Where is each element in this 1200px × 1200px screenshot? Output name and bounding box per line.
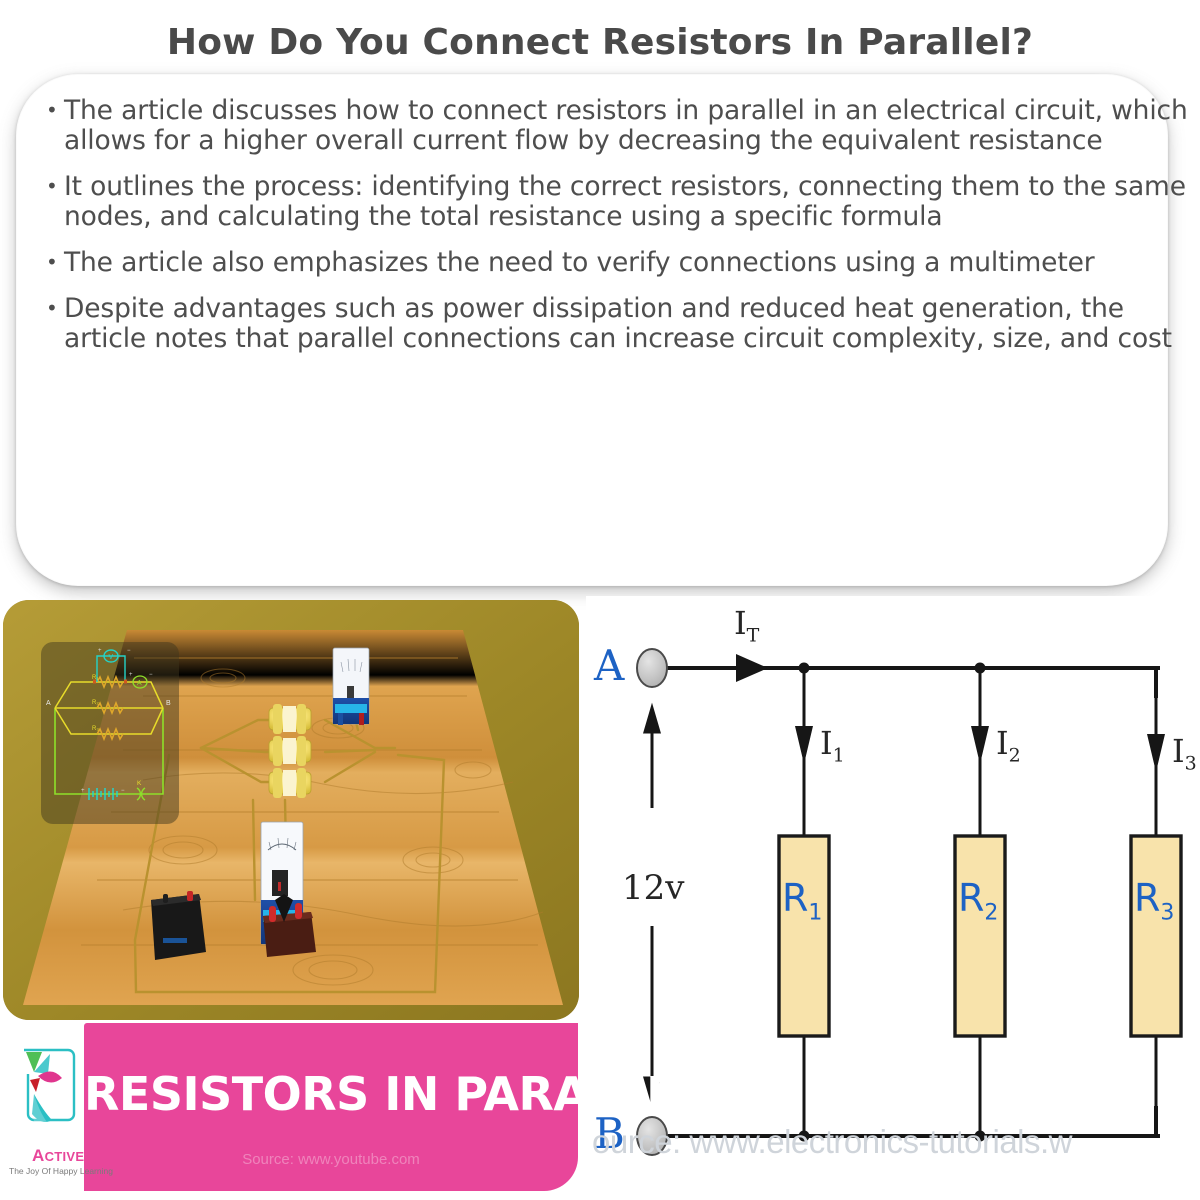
svg-text:V: V: [109, 654, 114, 661]
svg-text:R₃: R₃: [92, 726, 99, 732]
photo-resistor-2: [269, 736, 311, 766]
branch-current-3-label: I3: [1172, 732, 1197, 774]
r3-subscript: 3: [1160, 901, 1174, 926]
banner-title: RESISTORS IN PARALLEL: [84, 1067, 578, 1121]
svg-text:R₂: R₂: [92, 700, 99, 706]
resistor-r1: [779, 836, 829, 1036]
svg-text:A: A: [46, 700, 51, 707]
list-item: It outlines the process: identifying the…: [40, 172, 1190, 232]
branch-current-2-label: I2: [996, 724, 1021, 766]
node-dot: [975, 663, 986, 674]
resistor-r2-label: R2: [958, 876, 998, 926]
logo-brand-initial: A: [32, 1146, 45, 1165]
logo-brand-name: ACTIVE: [32, 1146, 84, 1166]
list-item: Despite advantages such as power dissipa…: [40, 294, 1190, 354]
svg-text:+: +: [129, 672, 133, 678]
page-title: How Do You Connect Resistors In Parallel…: [0, 22, 1200, 63]
terminal-a-node: [637, 649, 667, 687]
node-dot: [799, 663, 810, 674]
photo-resistor-1: [269, 704, 311, 734]
logo-mark-icon: [8, 1042, 88, 1142]
r3-symbol: R: [1134, 876, 1160, 920]
branch-1-current-symbol: I: [820, 724, 833, 762]
resistor-r2: [955, 836, 1005, 1036]
i2-arrow-icon: [971, 726, 989, 764]
svg-text:−: −: [149, 672, 153, 678]
svg-text:B: B: [166, 700, 171, 707]
svg-text:+: +: [98, 648, 102, 654]
resistor-r1-label: R1: [782, 876, 822, 926]
resistor-r3-label: R3: [1134, 876, 1174, 926]
supply-voltage-label: 12v: [622, 868, 684, 908]
r2-subscript: 2: [984, 901, 998, 926]
photo-schematic-overlay: V + − A + − K + − A: [41, 642, 179, 824]
svg-text:A: A: [137, 680, 142, 687]
resistor-r3: [1131, 836, 1181, 1036]
logo-tagline: The Joy Of Happy Learning: [9, 1166, 89, 1176]
branch-3-current-subscript: 3: [1185, 752, 1197, 774]
circuit-source-watermark: ource: www.electronics-tutorials.w: [592, 1123, 1072, 1161]
svg-text:−: −: [121, 788, 125, 794]
r1-subscript: 1: [808, 901, 822, 926]
branch-1-current-subscript: 1: [833, 744, 845, 766]
banner-source-text: Source: www.youtube.com: [84, 1151, 578, 1168]
branch-2-current-symbol: I: [996, 724, 1009, 762]
photo-battery: [151, 891, 206, 960]
brand-logo: ACTIVE The Joy Of Happy Learning: [8, 1042, 88, 1192]
banner: RESISTORS IN PARALLEL Source: www.youtub…: [84, 1023, 578, 1191]
branch-current-1-label: I1: [820, 724, 845, 766]
r2-symbol: R: [958, 876, 984, 920]
photo-ammeter: [333, 648, 369, 725]
branch-3-current-symbol: I: [1172, 732, 1185, 770]
total-current-symbol: I: [734, 604, 747, 642]
logo-brand-rest: CTIVE: [45, 1149, 85, 1164]
it-arrow-icon: [736, 654, 768, 682]
i1-arrow-icon: [795, 726, 813, 764]
svg-text:−: −: [127, 648, 131, 654]
branch-2-current-subscript: 2: [1009, 744, 1021, 766]
svg-text:+: +: [81, 788, 85, 794]
r1-symbol: R: [782, 876, 808, 920]
lab-setup-photo: V + − A + − K + − A: [3, 600, 579, 1020]
photo-resistor-3: [269, 768, 311, 798]
terminal-a-label: A: [594, 641, 624, 690]
total-current-subscript: T: [747, 624, 760, 646]
svg-text:K: K: [137, 780, 142, 787]
total-current-label: IT: [734, 604, 759, 646]
list-item: The article discusses how to connect res…: [40, 96, 1190, 156]
i3-arrow-icon: [1147, 734, 1165, 772]
summary-bullet-list: The article discusses how to connect res…: [40, 96, 1190, 370]
list-item: The article also emphasizes the need to …: [40, 248, 1190, 278]
